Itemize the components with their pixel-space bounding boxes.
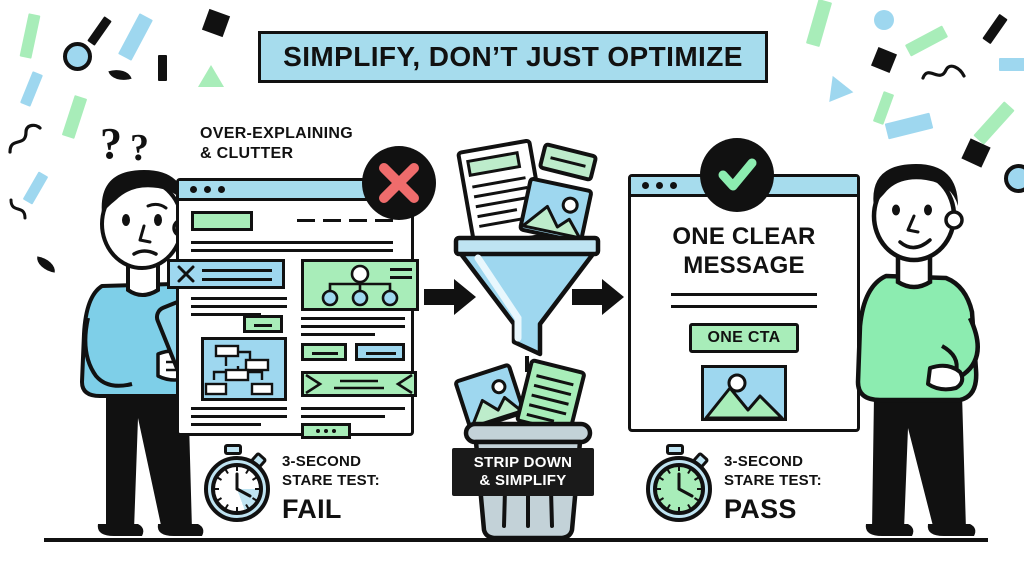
clutter-ellipsis-pill[interactable]: [301, 423, 351, 439]
page-title: SIMPLIFY, DON’T JUST OPTIMIZE: [283, 41, 743, 73]
confetti-squiggle: [920, 62, 968, 88]
clutter-line: [191, 249, 393, 252]
stopwatch-dial: [211, 463, 263, 515]
clean-browser-window[interactable]: ONE CLEAR MESSAGE ONE CTA: [628, 174, 860, 432]
clutter-line: [191, 297, 287, 300]
right-stare-test: 3-SECOND STARE TEST: PASS: [640, 444, 860, 536]
confetti-bar: [905, 25, 948, 56]
window-dot-icon: [218, 186, 225, 193]
right-test-label-line1: 3-SECOND: [724, 452, 822, 471]
confetti-square: [871, 47, 897, 73]
confetti-circle: [874, 10, 894, 30]
confetti-leaf: [35, 256, 57, 272]
clutter-arrow-banner: [301, 371, 417, 397]
clutter-line: [191, 423, 261, 426]
clutter-line: [301, 317, 405, 320]
confetti-bar: [973, 101, 1014, 145]
clutter-dash: [323, 219, 341, 222]
confetti-bar: [87, 16, 112, 46]
clutter-tree-diagram-box: [301, 259, 419, 311]
confetti-squiggle: [8, 196, 42, 226]
red-x-badge: [362, 146, 436, 220]
confetti-bar: [982, 14, 1007, 44]
window-dot-icon: [190, 186, 197, 193]
stopwatch-crown: [666, 444, 684, 455]
infographic-canvas: SIMPLIFY, DON’T JUST OPTIMIZE OVER-EXPLA…: [0, 0, 1024, 572]
clutter-line: [301, 325, 405, 328]
confetti-bar: [999, 58, 1024, 71]
clutter-line: [191, 305, 287, 308]
cluttered-browser-window[interactable]: [176, 178, 414, 436]
clutter-line: [366, 352, 396, 355]
confetti-bar: [806, 0, 832, 47]
window-dot-icon: [670, 182, 677, 189]
confetti-squiggle: [6, 122, 46, 156]
window-dot-icon: [204, 186, 211, 193]
left-stare-test: 3-SECOND STARE TEST: FAIL: [198, 444, 418, 536]
funnel-group: [444, 132, 610, 372]
green-check-badge: [700, 138, 774, 212]
strip-label-line2: & SIMPLIFY: [479, 472, 566, 490]
incoming-documents: [458, 140, 596, 247]
clutter-line: [191, 415, 287, 418]
image-placeholder-icon: [701, 365, 787, 421]
confetti-triangle-outline: [821, 71, 854, 102]
clutter-line: [301, 415, 385, 418]
confetti-bar: [20, 71, 43, 107]
confetti-bar: [158, 55, 167, 81]
clutter-green-button[interactable]: [191, 211, 253, 231]
ground-line: [44, 538, 988, 542]
clutter-line: [390, 276, 412, 279]
one-cta-button[interactable]: ONE CTA: [689, 323, 799, 353]
clutter-flowchart-box: [201, 337, 287, 401]
green-check-icon: [714, 152, 760, 198]
left-stare-test-text: 3-SECOND STARE TEST: FAIL: [282, 452, 380, 524]
confetti-bar: [873, 91, 894, 125]
question-mark-icon: ?: [130, 126, 149, 170]
clutter-blue-pill[interactable]: [355, 343, 405, 361]
question-mark-icon: ?: [100, 118, 122, 169]
confetti-bar: [20, 13, 41, 59]
clutter-line: [390, 268, 412, 271]
window-dot-icon: [656, 182, 663, 189]
divider-rule: [671, 305, 817, 308]
confetti-triangle: [198, 65, 224, 87]
panel-title-line2: MESSAGE: [631, 252, 857, 279]
one-cta-label: ONE CTA: [708, 329, 781, 347]
clutter-line: [202, 278, 272, 281]
confetti-leaf: [108, 65, 131, 84]
left-test-label-line2: STARE TEST:: [282, 471, 380, 490]
clutter-line: [301, 333, 375, 336]
stopwatch-dial: [653, 463, 705, 515]
strip-down-label: STRIP DOWN & SIMPLIFY: [452, 448, 594, 496]
flowchart-icon: [204, 340, 284, 398]
right-test-verdict: PASS: [724, 494, 822, 524]
clutter-line: [312, 352, 338, 355]
right-stare-test-text: 3-SECOND STARE TEST: PASS: [724, 452, 822, 524]
clutter-dash: [349, 219, 367, 222]
confetti-ring: [63, 42, 92, 71]
clutter-line: [191, 241, 393, 244]
clutter-line: [191, 407, 287, 410]
left-test-verdict: FAIL: [282, 494, 380, 524]
x-icon: [176, 264, 196, 284]
confetti-bar: [118, 13, 153, 61]
confident-person: [842, 160, 1022, 540]
clutter-line: [301, 407, 405, 410]
panel-title-line1: ONE CLEAR: [631, 223, 857, 250]
right-test-label-line2: STARE TEST:: [724, 471, 822, 490]
strip-label-line1: STRIP DOWN: [474, 454, 573, 472]
page-title-banner: SIMPLIFY, DON’T JUST OPTIMIZE: [258, 31, 768, 83]
window-dot-icon: [642, 182, 649, 189]
clutter-dash: [297, 219, 315, 222]
divider-rule: [671, 293, 817, 296]
clutter-blue-banner-with-x[interactable]: [167, 259, 285, 289]
confetti-square: [202, 9, 230, 37]
clutter-line: [254, 324, 272, 327]
clutter-green-pill[interactable]: [301, 343, 347, 361]
confetti-bar: [885, 113, 934, 140]
stopwatch-crown: [224, 444, 242, 455]
arrow-banner-icon: [304, 374, 414, 394]
red-x-icon: [376, 160, 422, 206]
clutter-small-green-button[interactable]: [243, 315, 283, 333]
clutter-line: [202, 269, 272, 272]
left-test-label-line1: 3-SECOND: [282, 452, 380, 471]
clutter-dash: [375, 219, 393, 222]
